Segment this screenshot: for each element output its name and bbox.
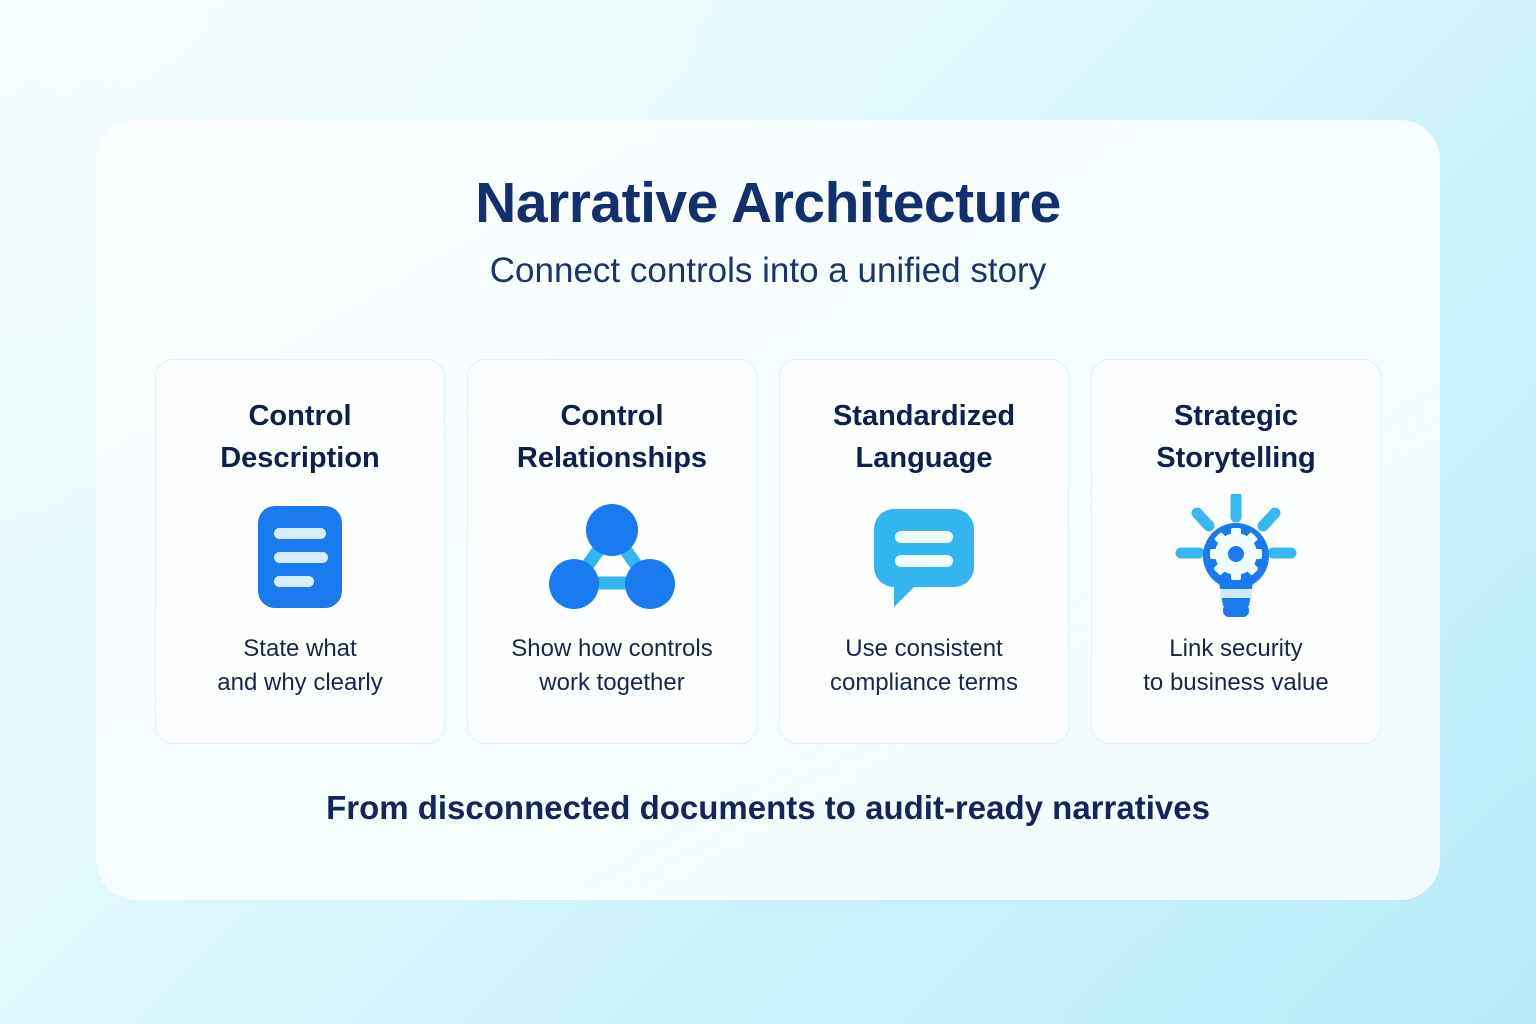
feature-card-control-description[interactable]: Control Description State what and why c… [155, 359, 445, 744]
info-panel: Narrative Architecture Connect controls … [96, 120, 1440, 900]
card-description: Show how controls work together [468, 632, 756, 700]
card-description: State what and why clearly [156, 632, 444, 700]
feature-card-control-relationships[interactable]: Control Relationships Show how controls … [467, 359, 757, 744]
network-nodes-icon [468, 492, 756, 622]
card-title: Strategic Storytelling [1156, 396, 1316, 480]
speech-bubble-icon [780, 492, 1068, 622]
lightbulb-gear-icon [1092, 492, 1380, 622]
page-subtitle: Connect controls into a unified story [96, 252, 1440, 291]
feature-card-standardized-language[interactable]: Standardized Language Use consistent com… [779, 359, 1069, 744]
card-description: Link security to business value [1092, 632, 1380, 700]
panel-header: Narrative Architecture Connect controls … [96, 120, 1440, 290]
document-lines-icon [156, 492, 444, 622]
page-title: Narrative Architecture [96, 174, 1440, 234]
card-title: Control Relationships [517, 396, 707, 480]
footer-tagline: From disconnected documents to audit-rea… [96, 789, 1440, 827]
feature-card-row: Control Description State what and why c… [155, 359, 1382, 744]
card-description: Use consistent compliance terms [780, 632, 1068, 700]
feature-card-strategic-storytelling[interactable]: Strategic Storytelling [1091, 359, 1381, 744]
card-title: Standardized Language [833, 396, 1015, 480]
card-title: Control Description [220, 396, 380, 480]
